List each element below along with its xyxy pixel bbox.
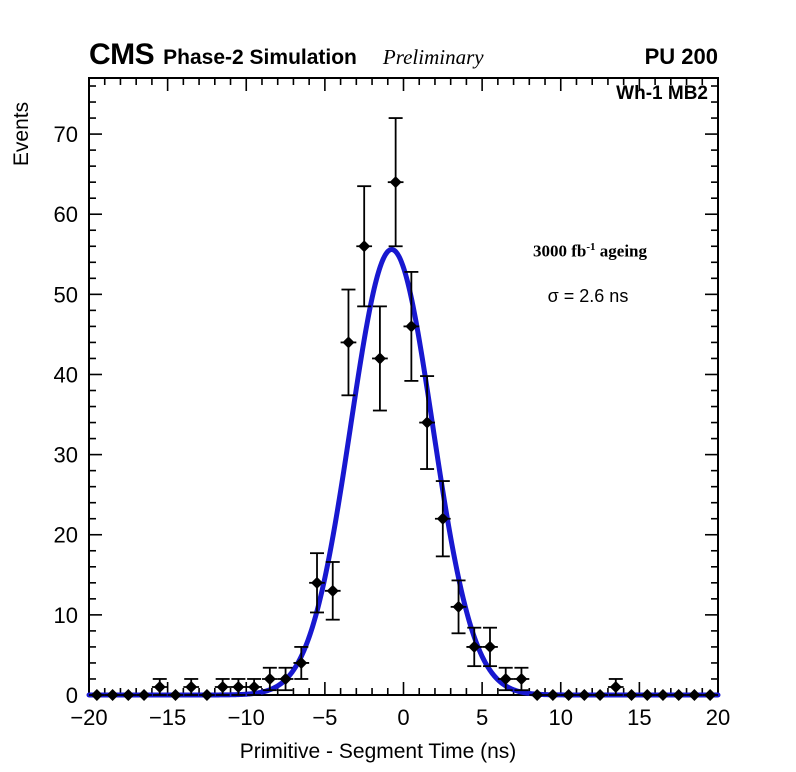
x-tick-label: −20 (70, 705, 107, 730)
fit-curve-path (89, 249, 718, 695)
data-marker (264, 673, 276, 685)
y-tick-label: 50 (54, 282, 78, 307)
axis-ticks (89, 78, 718, 695)
data-marker (217, 681, 229, 693)
x-tick-label: 0 (397, 705, 409, 730)
data-marker (641, 689, 653, 701)
data-marker (327, 585, 339, 597)
data-marker (374, 352, 386, 364)
x-tick-label: 15 (627, 705, 651, 730)
y-tick-label: 20 (54, 523, 78, 548)
x-tick-label: 20 (706, 705, 730, 730)
x-tick-label: −10 (228, 705, 265, 730)
y-tick-label: 30 (54, 443, 78, 468)
data-marker (563, 689, 575, 701)
data-marker (122, 689, 134, 701)
data-marker (547, 689, 559, 701)
data-marker (342, 336, 354, 348)
plot-canvas: −20−15−10−505101520010203040506070 (0, 0, 796, 772)
data-marker (578, 689, 590, 701)
data-marker (138, 689, 150, 701)
data-marker (688, 689, 700, 701)
data-marker (626, 689, 638, 701)
axis-tick-labels: −20−15−10−505101520010203040506070 (54, 122, 731, 730)
data-marker (484, 641, 496, 653)
y-tick-label: 10 (54, 603, 78, 628)
gaussian-fit-curve (89, 249, 718, 695)
x-tick-label: −5 (312, 705, 337, 730)
y-tick-label: 60 (54, 202, 78, 227)
data-error-bars (89, 118, 718, 695)
data-marker (107, 689, 119, 701)
x-tick-label: −15 (149, 705, 186, 730)
data-marker (594, 689, 606, 701)
data-markers (91, 176, 716, 701)
data-marker (154, 681, 166, 693)
data-marker (610, 681, 622, 693)
y-tick-label: 0 (66, 683, 78, 708)
y-tick-label: 70 (54, 122, 78, 147)
data-marker (531, 689, 543, 701)
chart-page: CMS Phase-2 Simulation Preliminary PU 20… (0, 0, 796, 772)
plot-frame (89, 78, 718, 695)
y-tick-label: 40 (54, 362, 78, 387)
data-marker (657, 689, 669, 701)
x-tick-label: 10 (549, 705, 573, 730)
data-marker (515, 673, 527, 685)
data-marker (390, 176, 402, 188)
x-tick-label: 5 (476, 705, 488, 730)
data-marker (185, 681, 197, 693)
data-marker (704, 689, 716, 701)
data-marker (358, 240, 370, 252)
data-marker (232, 681, 244, 693)
data-marker (201, 689, 213, 701)
data-marker (169, 689, 181, 701)
frame-rect (89, 78, 718, 695)
data-marker (91, 689, 103, 701)
data-marker (673, 689, 685, 701)
